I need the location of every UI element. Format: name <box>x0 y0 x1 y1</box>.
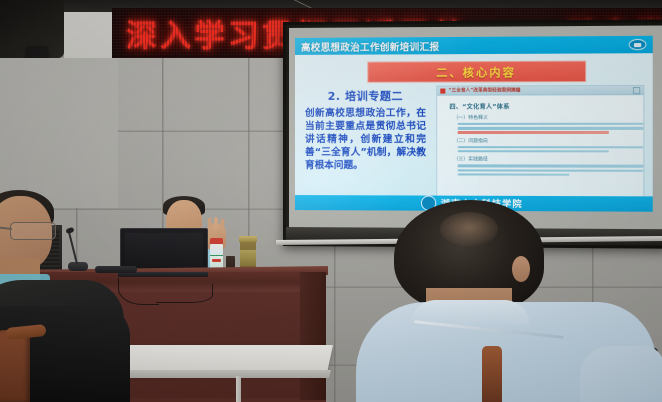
glasses-icon <box>10 222 56 240</box>
presentation-slide: 高校思想政治工作创新培训汇报 二、核心内容 2. 培训专题二 创新高校思想政治工… <box>295 36 653 212</box>
document-app-icon <box>440 88 445 93</box>
slide-header: 高校思想政治工作创新培训汇报 <box>295 36 653 55</box>
document-heading: 四、“文化育人”体系 <box>449 101 637 110</box>
projector <box>0 0 64 58</box>
slide-text-column: 2. 培训专题二 创新高校思想政治工作，在当前主要重点是贯彻总书记讲话精神，创新… <box>305 88 426 173</box>
tea-jar-label <box>240 250 256 266</box>
presenter-finger <box>214 217 218 230</box>
audience-right-ear <box>512 256 530 282</box>
document-subheading-1: （一）特色释义 <box>454 114 638 121</box>
presenter-finger <box>207 218 213 230</box>
document-text-line <box>458 169 644 172</box>
podium-right-edge <box>300 272 326 400</box>
lecture-room-photo: 深入学习贯彻习近平总 动向党 高校思想政治工作创新培训汇报 二、核心内容 2. … <box>0 0 662 402</box>
document-subheading-3: （三）实践路径 <box>454 156 638 163</box>
document-text-line <box>458 146 644 149</box>
document-body: 四、“文化育人”体系 （一）特色释义 （二）问题指向 （三）实践路径 <box>437 95 643 196</box>
document-subheading-2: （二）问题指向 <box>454 137 638 144</box>
document-window-control-icon <box>633 86 640 93</box>
slide-header-title: 高校思想政治工作创新培训汇报 <box>301 39 439 54</box>
document-text-line-highlighted <box>458 131 609 133</box>
slide-section-banner: 二、核心内容 <box>367 61 586 83</box>
slide-logo-icon <box>629 39 647 50</box>
chair-left <box>0 330 30 402</box>
audience-right-arm <box>580 346 662 402</box>
slide-subtitle: 2. 培训专题二 <box>305 88 426 104</box>
document-text-line <box>458 150 609 153</box>
chair-right-backrest-slat <box>482 346 502 402</box>
tea-jar-cap <box>239 236 257 242</box>
document-titlebar: “三全育人”改革典型经验案例摘编 <box>437 86 643 96</box>
slide-section-banner-text: 二、核心内容 <box>436 63 516 79</box>
document-text-line <box>458 123 644 126</box>
water-bottle-cap <box>210 238 223 244</box>
audience-right-scalp <box>440 212 498 246</box>
document-text-line <box>458 165 644 168</box>
slide-document-screenshot: “三全育人”改革典型经验案例摘编 四、“文化育人”体系 （一）特色释义 （二）问… <box>436 85 644 197</box>
document-title: “三全育人”改革典型经验案例摘编 <box>448 87 520 93</box>
laptop-screen <box>125 233 203 270</box>
audience-right-foreground <box>366 196 646 402</box>
document-text-line <box>458 127 644 129</box>
cable <box>156 284 213 303</box>
slide-body-text: 创新高校思想政治工作，在当前主要重点是贯彻总书记讲话精神，创新建立和完善“三全育… <box>305 107 426 173</box>
white-table-leg <box>236 376 241 402</box>
wall-left-section <box>0 58 118 208</box>
document-text-line <box>458 173 570 176</box>
